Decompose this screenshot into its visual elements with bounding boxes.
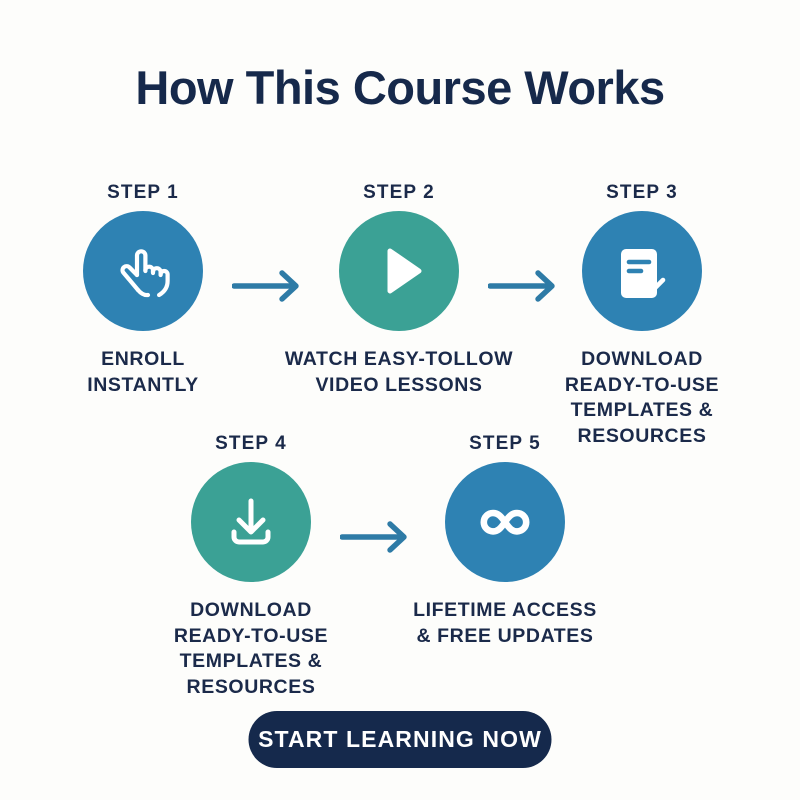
step-1-circle[interactable] [83, 211, 203, 331]
page-title: How This Course Works [0, 62, 800, 114]
step-4-label: STEP 4 [131, 434, 371, 453]
step-4-caption: DOWNLOAD READY-TO-USE TEMPLATES & RESOUR… [131, 598, 371, 701]
step-4: STEP 4 DOWNLOAD READY-TO-USE TEMPLATES &… [131, 434, 371, 701]
step-5-caption: LIFETIME ACCESS & FREE UPDATES [385, 598, 625, 649]
step-5: STEP 5 LIFETIME ACCESS & FREE UPDATES [385, 434, 625, 649]
document-download-icon [611, 240, 673, 302]
step-2-circle[interactable] [339, 211, 459, 331]
download-tray-icon [220, 491, 282, 553]
step-3-circle[interactable] [582, 211, 702, 331]
pointing-hand-icon [111, 239, 175, 303]
infinity-icon [473, 490, 537, 554]
start-learning-now-button[interactable]: START LEARNING NOW [249, 711, 552, 768]
step-2-label: STEP 2 [279, 183, 519, 202]
step-2: STEP 2 WATCH EASY-TOLLOW VIDEO LESSONS [279, 183, 519, 398]
step-5-label: STEP 5 [385, 434, 625, 453]
step-1: STEP 1 ENROLL INSTANTLY [23, 183, 263, 398]
step-1-caption: ENROLL INSTANTLY [23, 347, 263, 398]
infographic-canvas: How This Course Works STEP 1 ENROLL INST… [0, 0, 800, 800]
play-icon [368, 240, 430, 302]
step-2-caption: WATCH EASY-TOLLOW VIDEO LESSONS [279, 347, 519, 398]
step-3: STEP 3 DOWNLOAD READY-TO-USE TEMPLATES &… [522, 183, 762, 450]
step-3-label: STEP 3 [522, 183, 762, 202]
step-1-label: STEP 1 [23, 183, 263, 202]
step-4-circle[interactable] [191, 462, 311, 582]
step-5-circle[interactable] [445, 462, 565, 582]
